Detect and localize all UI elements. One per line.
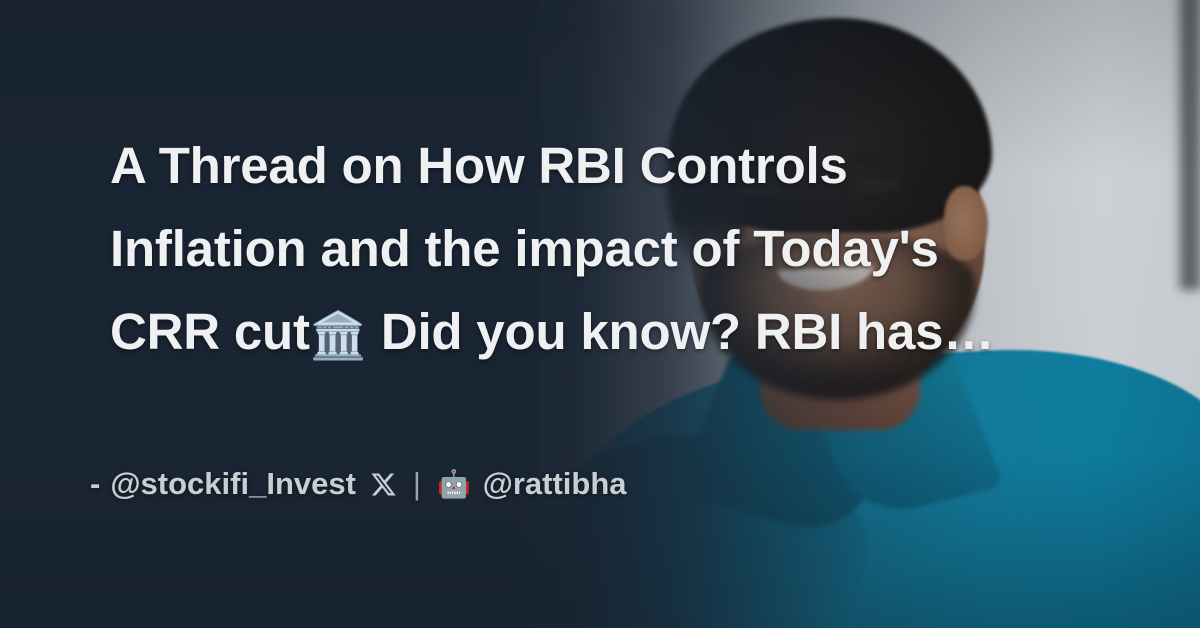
classical-building-emoji: 🏛️ <box>310 309 367 361</box>
title-line-1: A Thread on How RBI Controls <box>110 137 848 194</box>
robot-face-icon: 🤖 <box>437 471 471 498</box>
x-logo-icon[interactable] <box>370 471 397 498</box>
attribution-footer: - @stockifi_Invest | 🤖 @rattibha <box>90 466 627 502</box>
card-content: A Thread on How RBI Controls Inflation a… <box>0 0 1200 628</box>
page-title: A Thread on How RBI Controls Inflation a… <box>110 124 1110 377</box>
title-line-3-prefix: CRR cut <box>110 303 310 360</box>
thread-preview-card: A Thread on How RBI Controls Inflation a… <box>0 0 1200 628</box>
title-line-2: Inflation and the impact of Today's <box>110 220 939 277</box>
footer-separator: | <box>413 466 421 502</box>
title-line-3-suffix: Did you know? RBI has… <box>367 303 994 360</box>
platform-handle[interactable]: @rattibha <box>483 466 627 502</box>
author-handle[interactable]: @stockifi_Invest <box>110 466 356 502</box>
footer-dash: - <box>90 466 100 502</box>
